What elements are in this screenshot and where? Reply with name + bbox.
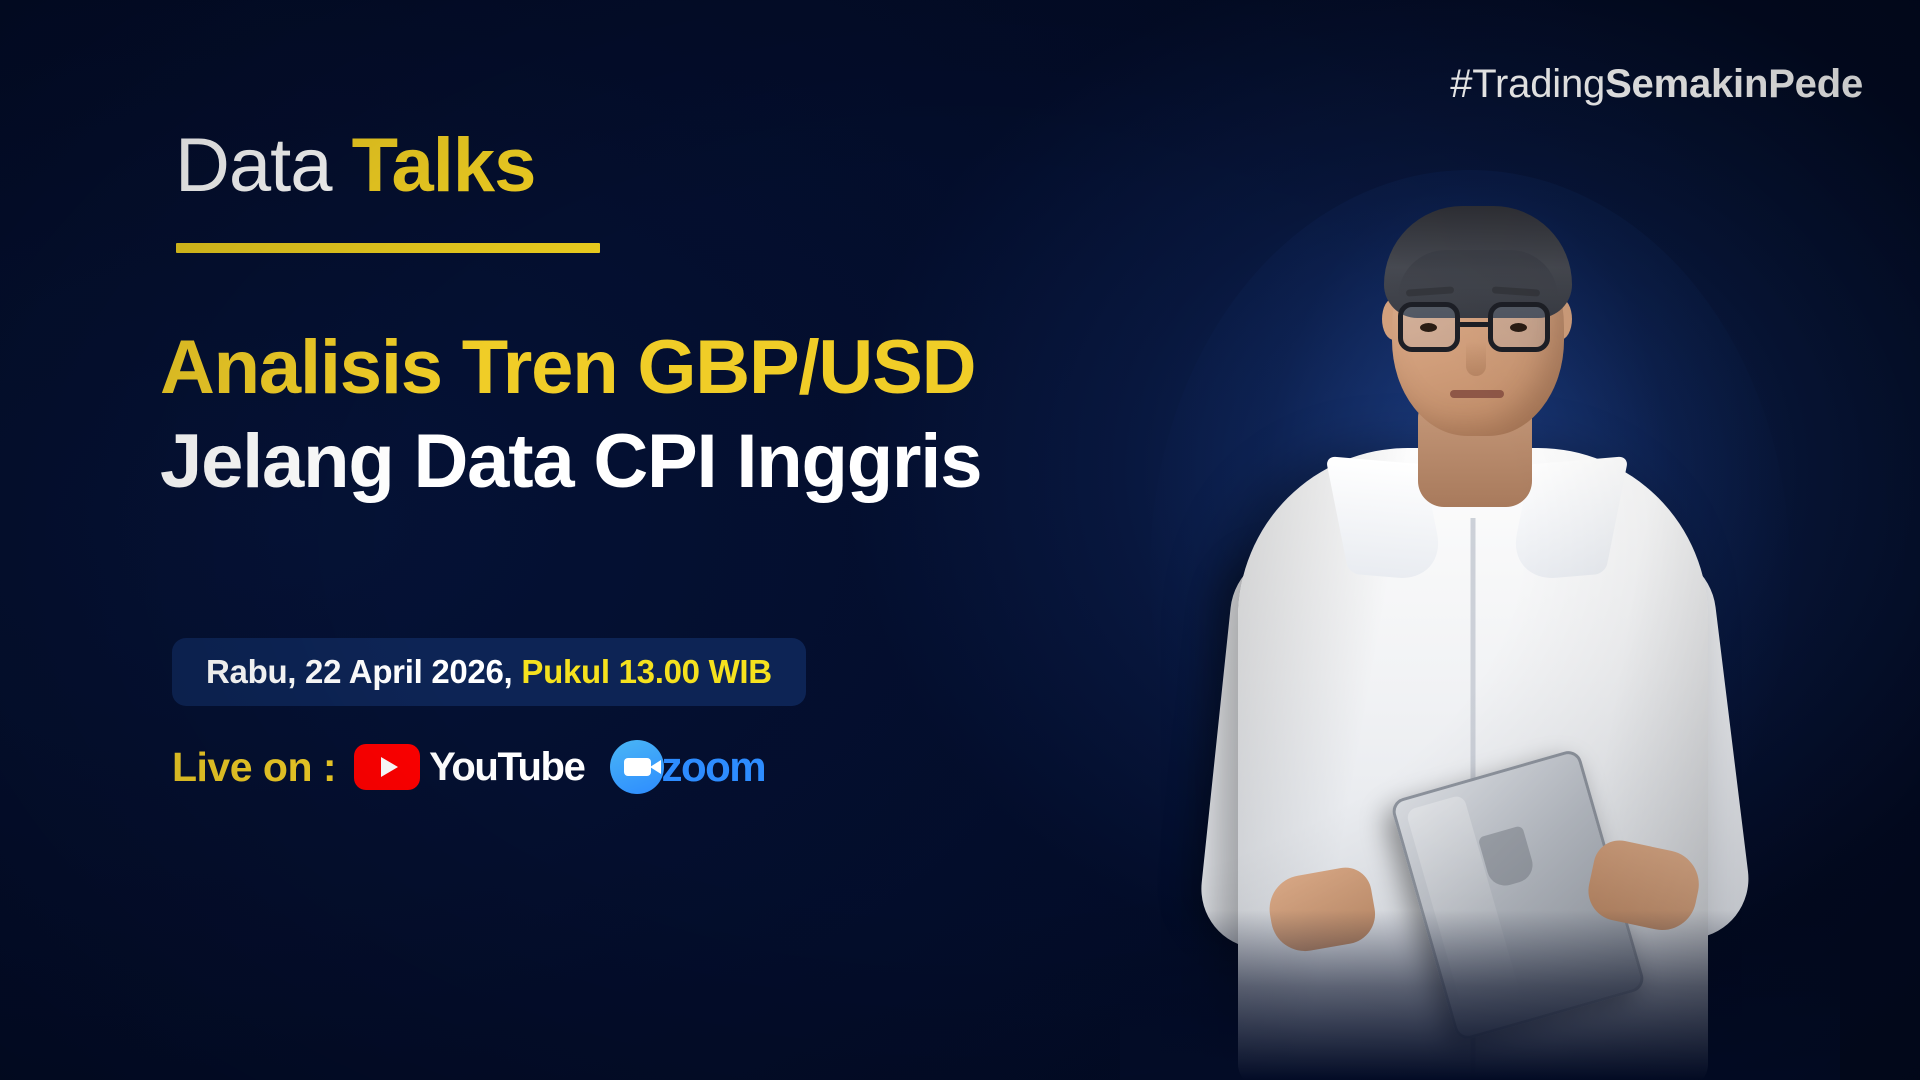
- presenter-white-shirt: [1238, 448, 1708, 1080]
- youtube-play-icon: [354, 744, 420, 790]
- schedule-badge: Rabu, 22 April 2026, Pukul 13.00 WIB: [172, 638, 806, 706]
- presenter-photo: [1120, 130, 1840, 1080]
- brand-word-talks: Talks: [352, 123, 536, 208]
- presenter-eye-right: [1510, 323, 1527, 332]
- zoom-logo[interactable]: zoom: [610, 740, 765, 794]
- hashtag-suffix: SemakinPede: [1605, 62, 1863, 106]
- presenter-ear-left: [1382, 298, 1406, 340]
- presenter-hair: [1384, 206, 1572, 318]
- live-on-label: Live on :: [172, 744, 336, 791]
- presenter-ear-right: [1548, 298, 1572, 340]
- youtube-logo[interactable]: YouTube: [354, 744, 584, 790]
- schedule-date: Rabu, 22 April 2026,: [206, 653, 512, 691]
- live-platforms-row: Live on : YouTube zoom: [172, 740, 765, 794]
- presenter-glasses-left-lens: [1398, 302, 1460, 352]
- campaign-hashtag: #TradingSemakinPede: [1450, 62, 1863, 107]
- presenter-right-arm: [1583, 544, 1756, 946]
- schedule-time: Pukul 13.00 WIB: [521, 653, 771, 691]
- promo-banner: #TradingSemakinPede Data Talks Analisis …: [0, 0, 1920, 1080]
- presenter-backlight-glow: [1150, 170, 1790, 970]
- presenter-left-arm: [1195, 544, 1364, 955]
- presenter-glasses-right-lens: [1488, 302, 1550, 352]
- brand-underline-bar: [176, 243, 600, 253]
- presenter-head: [1392, 218, 1564, 436]
- presenter-nose: [1466, 342, 1486, 376]
- presenter-eye-left: [1420, 323, 1437, 332]
- headline-line-2: Jelang Data CPI Inggris: [160, 424, 981, 500]
- presenter-eyebrow-left: [1406, 286, 1454, 296]
- program-brand-title: Data Talks: [175, 128, 535, 204]
- zoom-wordmark: zoom: [661, 743, 765, 791]
- headline-line-1: Analisis Tren GBP/USD: [160, 330, 981, 406]
- presenter-hand-right: [1583, 836, 1705, 937]
- hashtag-prefix: #Trading: [1450, 62, 1605, 106]
- presenter-collar-right: [1507, 456, 1628, 582]
- presenter-bottom-fade: [1120, 910, 1840, 1080]
- presenter-mouth: [1450, 390, 1504, 398]
- event-headline: Analisis Tren GBP/USD Jelang Data CPI In…: [160, 330, 981, 500]
- brand-word-data: Data: [175, 123, 332, 208]
- presenter-tablet-device: [1389, 748, 1646, 1042]
- zoom-camera-icon: [610, 740, 664, 794]
- presenter-neck: [1418, 392, 1532, 507]
- presenter-hand-left: [1264, 864, 1380, 957]
- presenter-collar-left: [1325, 456, 1446, 582]
- presenter-glasses-bridge: [1458, 322, 1490, 327]
- presenter-eyebrow-right: [1492, 286, 1540, 296]
- youtube-wordmark: YouTube: [429, 745, 584, 790]
